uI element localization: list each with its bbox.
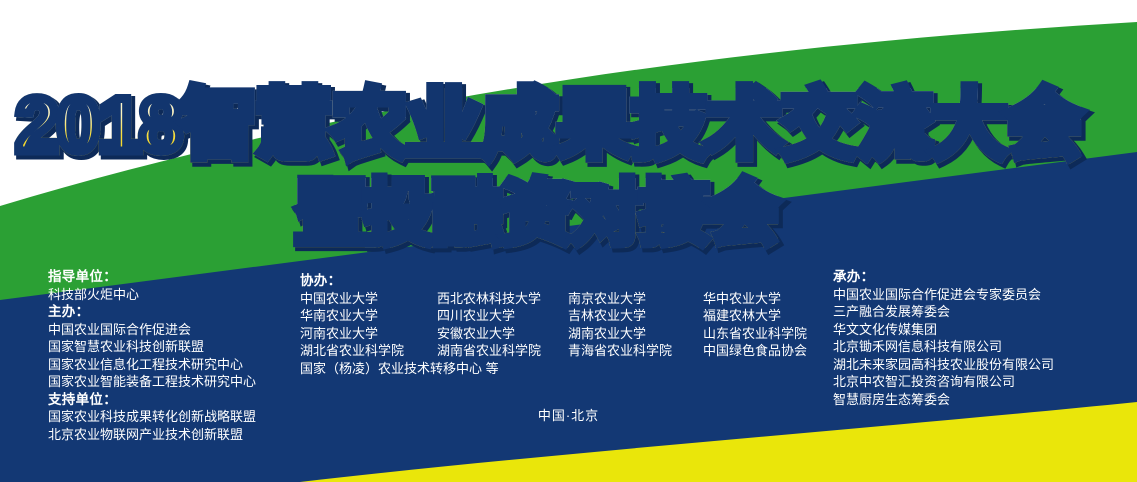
credits-column-undertakers: 承办： 中国农业国际合作促进会专家委员会 三产融合发展筹委会 华文文化传媒集团 … [833,268,1054,408]
coorganizer-item: 西北农林科技大学 [437,290,568,308]
organizers-item: 中国农业国际合作促进会 [48,321,256,339]
coorganizer-item: 河南农业大学 [300,325,437,343]
undertakers-heading: 承办： [833,268,1054,286]
coorganizer-item: 湖南农业大学 [568,325,703,343]
coorganizers-grid: 中国农业大学 西北农林科技大学 南京农业大学 华中农业大学 华南农业大学 四川农… [300,290,807,360]
coorganizer-item: 南京农业大学 [568,290,703,308]
organizers-heading: 主办： [48,303,256,321]
coorganizer-item: 青海省农业科学院 [568,342,703,360]
credits-block: 指导单位： 科技部火炬中心 主办： 中国农业国际合作促进会 国家智慧农业科技创新… [0,0,1137,482]
coorganizer-item: 福建农林大学 [703,307,807,325]
coorganizer-item: 吉林农业大学 [568,307,703,325]
undertaker-item: 北京锄禾网信息科技有限公司 [833,338,1054,356]
location-text: 中国·北京 [538,405,599,424]
location-line: 中国·北京 [0,405,1137,424]
undertaker-item: 北京中农智汇投资咨询有限公司 [833,373,1054,391]
coorganizer-item: 湖北省农业科学院 [300,342,437,360]
coorganizer-item: 华中农业大学 [703,290,807,308]
organizers-item: 国家智慧农业科技创新联盟 [48,338,256,356]
conference-banner: 2018智慧农业成果技术交流大会 暨投融资对接会 2018智慧农业成果技术交流大… [0,0,1137,482]
coorganizers-heading: 协办： [300,272,807,290]
coorganizer-item: 中国绿色食品协会 [703,342,807,360]
guidance-heading: 指导单位： [48,268,256,286]
credits-column-coorganizers: 协办： 中国农业大学 西北农林科技大学 南京农业大学 华中农业大学 华南农业大学… [300,272,807,377]
coorganizers-tail: 国家（杨凌）农业技术转移中心 等 [300,360,807,378]
organizers-item: 国家农业智能装备工程技术研究中心 [48,373,256,391]
organizers-item: 国家农业信息化工程技术研究中心 [48,356,256,374]
coorganizer-item: 湖南省农业科学院 [437,342,568,360]
coorganizer-item: 中国农业大学 [300,290,437,308]
coorganizer-item: 华南农业大学 [300,307,437,325]
undertaker-item: 湖北未来家园高科技农业股份有限公司 [833,356,1054,374]
guidance-item: 科技部火炬中心 [48,286,256,304]
undertaker-item: 华文文化传媒集团 [833,321,1054,339]
coorganizer-item: 安徽农业大学 [437,325,568,343]
coorganizer-item: 山东省农业科学院 [703,325,807,343]
undertaker-item: 中国农业国际合作促进会专家委员会 [833,286,1054,304]
coorganizer-item: 四川农业大学 [437,307,568,325]
undertaker-item: 三产融合发展筹委会 [833,303,1054,321]
supporters-item: 北京农业物联网产业技术创新联盟 [48,426,256,444]
